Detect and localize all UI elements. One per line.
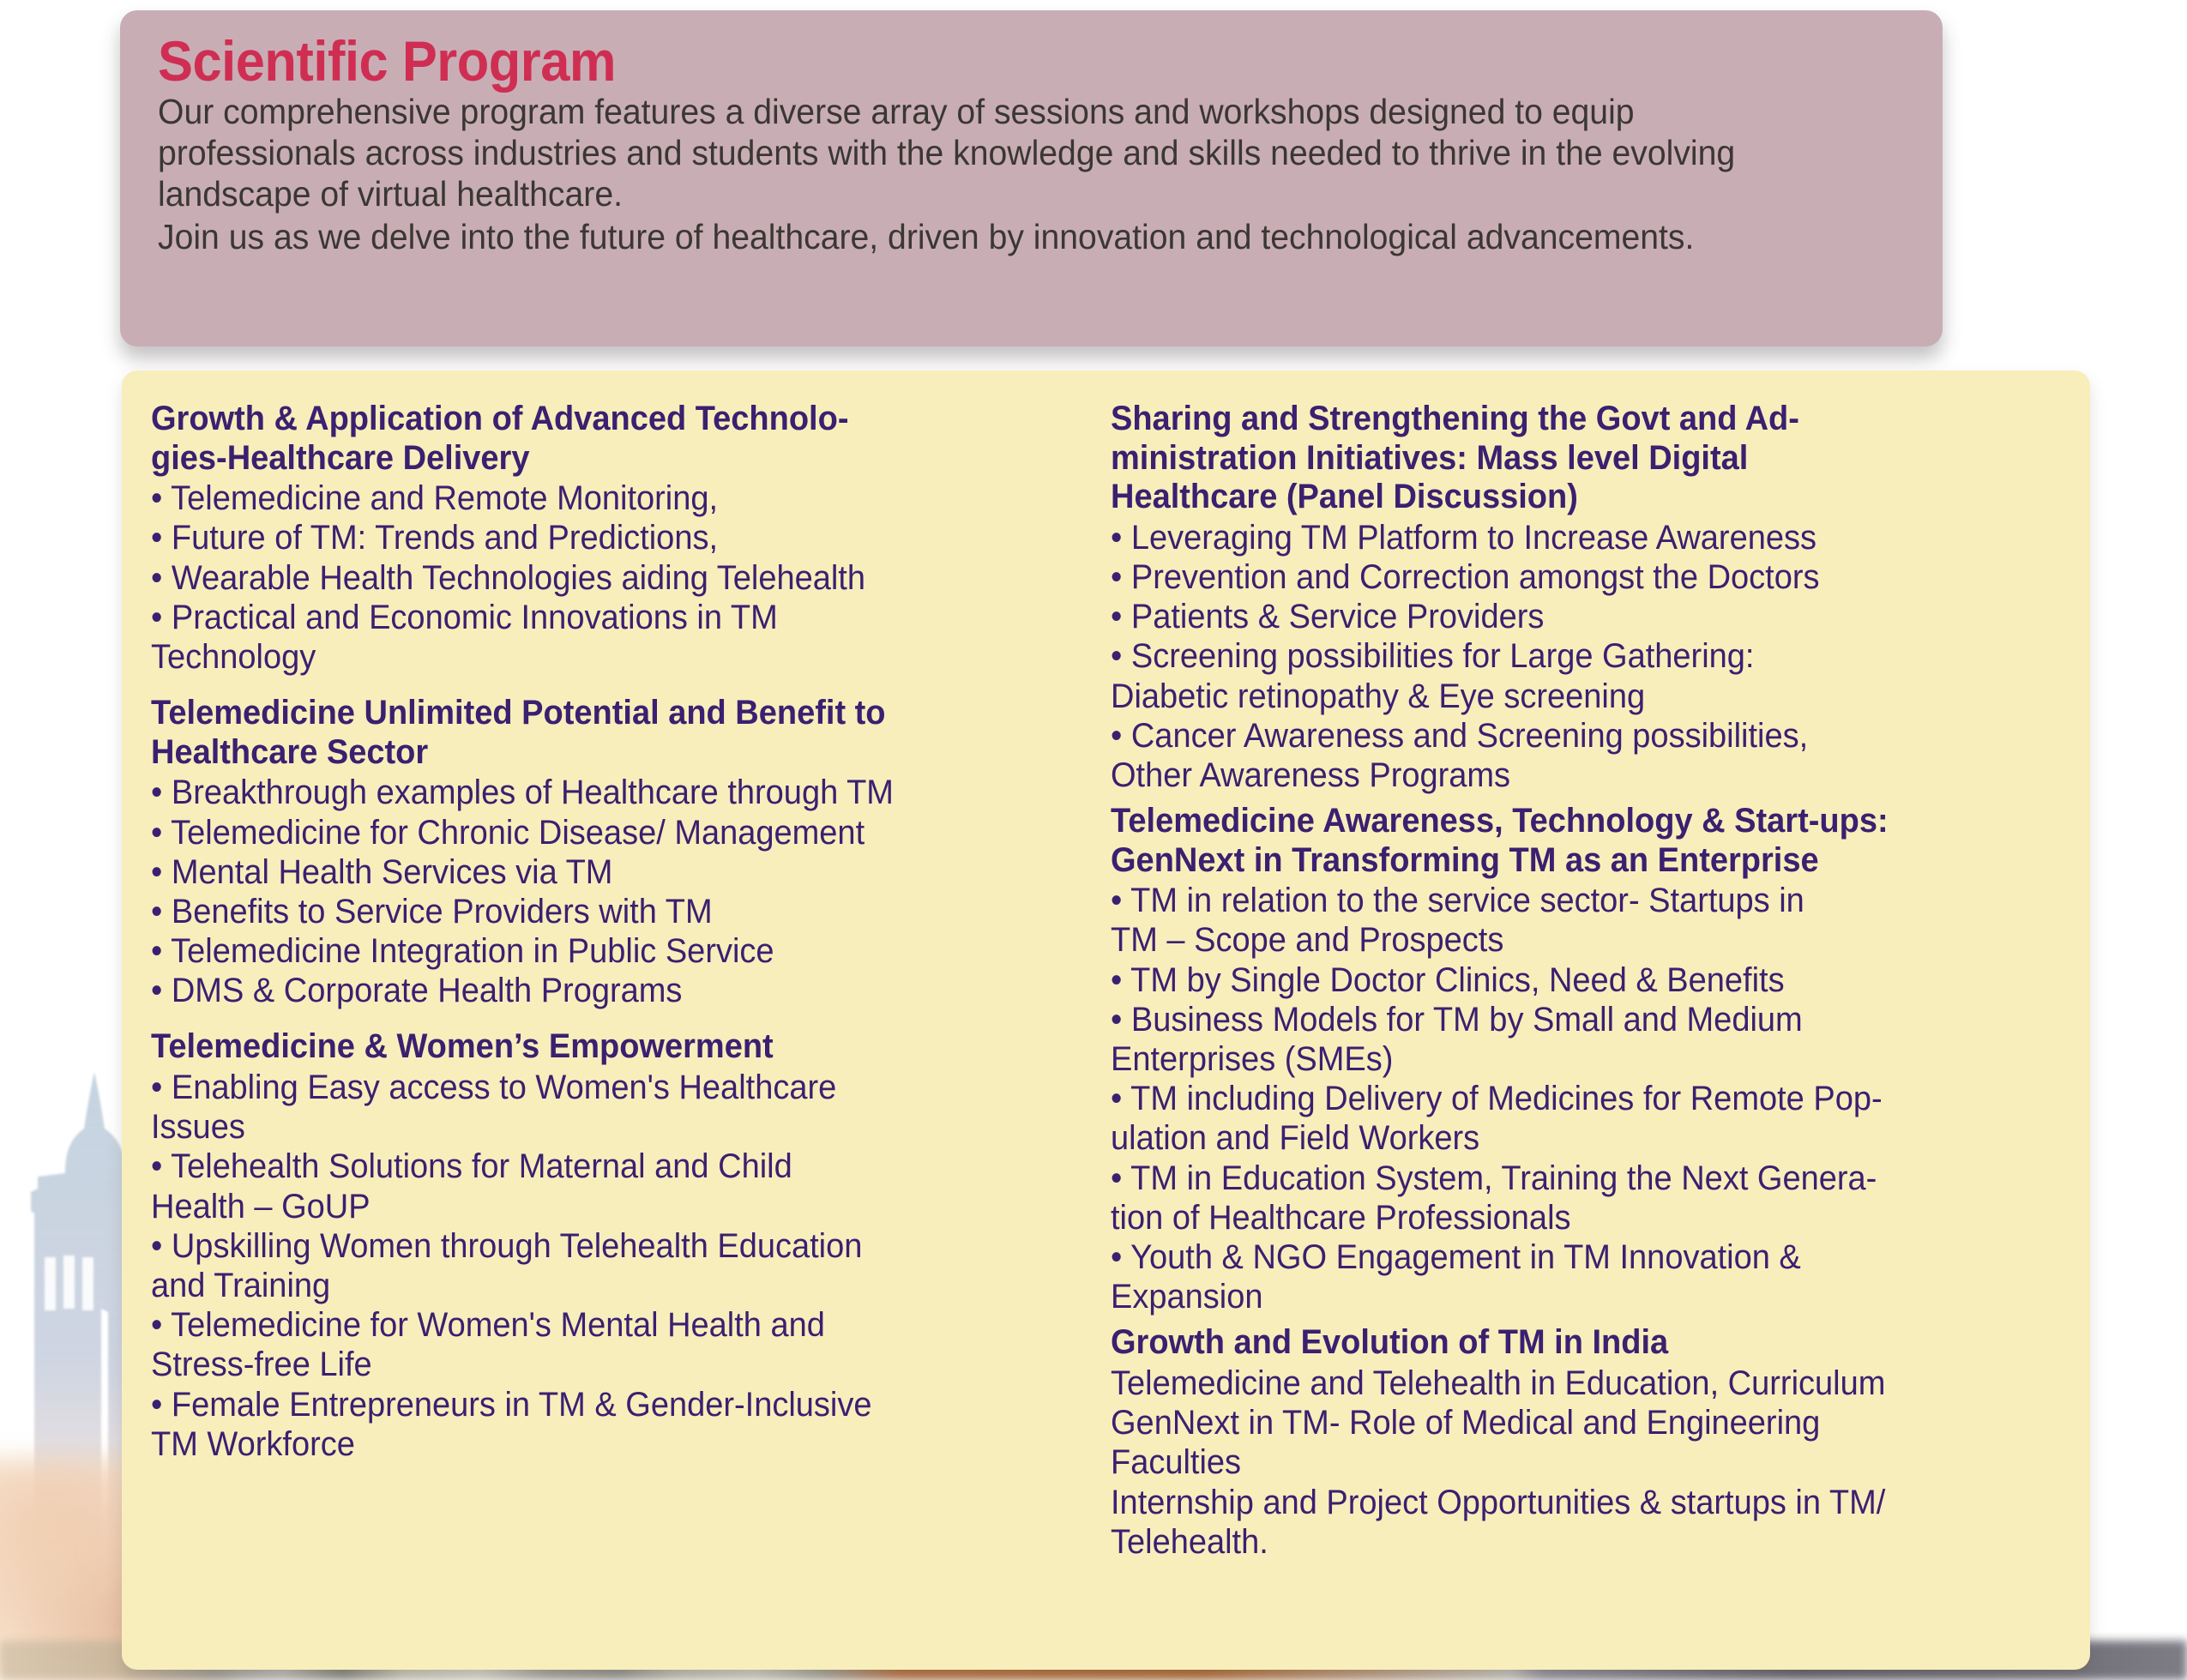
section-sharing-strengthening-govt: Sharing and Strengthening the Govt and A… <box>1111 400 2063 795</box>
section-items: • TM in relation to the service sector- … <box>1111 881 2015 1316</box>
section-items: • Telemedicine and Remote Monitoring, • … <box>151 479 1039 677</box>
section-heading: Growth & Application of Advanced Technol… <box>151 400 1039 478</box>
section-items: Telemedicine and Telehealth in Education… <box>1111 1364 2015 1562</box>
section-growth-evolution-tm-india: Growth and Evolution of TM in India Tele… <box>1111 1323 2063 1562</box>
section-heading: Sharing and Strengthening the Govt and A… <box>1111 400 2015 517</box>
program-content-card: Growth & Application of Advanced Technol… <box>122 370 2090 1670</box>
page-title: Scientific Program <box>158 33 1791 90</box>
section-heading: Telemedicine Unlimited Potential and Ben… <box>151 694 1039 772</box>
section-items: • Enabling Easy access to Women's Health… <box>151 1068 1039 1464</box>
section-telemedicine-awareness-startups: Telemedicine Awareness, Technology & Sta… <box>1111 802 2063 1316</box>
section-telemedicine-womens-empowerment: Telemedicine & Women’s Empowerment • Ena… <box>151 1027 1087 1463</box>
section-growth-application: Growth & Application of Advanced Technol… <box>151 400 1087 677</box>
scientific-program-header-card: Scientific Program Our comprehensive pro… <box>120 10 1943 346</box>
section-heading: Telemedicine & Women’s Empowerment <box>151 1027 1039 1067</box>
program-right-column: Sharing and Strengthening the Govt and A… <box>1099 400 2063 1653</box>
header-paragraph-2: Join us as we delve into the future of h… <box>158 217 1835 258</box>
section-telemedicine-unlimited-potential: Telemedicine Unlimited Potential and Ben… <box>151 694 1087 1010</box>
program-left-column: Growth & Application of Advanced Technol… <box>151 400 1099 1653</box>
section-heading: Telemedicine Awareness, Technology & Sta… <box>1111 802 2015 880</box>
section-items: • Leveraging TM Platform to Increase Awa… <box>1111 518 2015 795</box>
section-heading: Growth and Evolution of TM in India <box>1111 1323 2015 1363</box>
section-items: • Breakthrough examples of Healthcare th… <box>151 773 1039 1010</box>
header-paragraph-1: Our comprehensive program features a div… <box>158 92 1835 215</box>
